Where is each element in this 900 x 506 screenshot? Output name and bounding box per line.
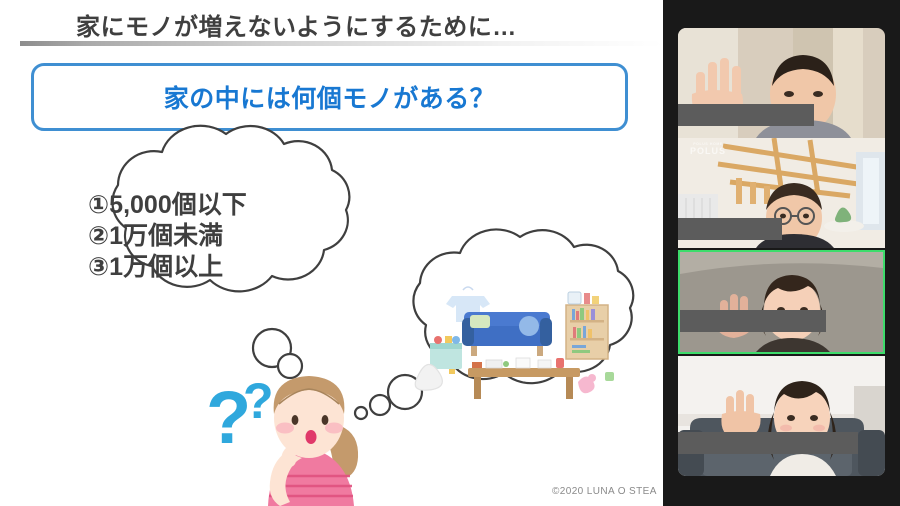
right-thought-bubble [413,229,633,383]
hanging-shirt-icon [446,287,490,322]
participant-name-redaction-1 [678,104,814,126]
coffee-table-icon [468,358,580,399]
video-tile-3[interactable] [678,250,885,354]
presentation-slide: 家にモノが増えないようにするために… 家の中には何個モノがある？ [0,0,663,506]
svg-text:?: ? [243,373,274,429]
slide-screenshot: 家にモノが増えないようにするために… 家の中には何個モノがある？ [0,0,900,506]
question-box-text: 家の中には何個モノがある？ [164,79,496,115]
plush-toy-icon [578,374,596,393]
participant-name-redaction-3 [680,310,826,332]
video-feed-4 [678,356,885,476]
answer-option-3: ③1万個以上 [88,252,247,283]
title-divider [20,41,663,46]
answer-option-2: ②1万個未満 [88,221,247,252]
svg-text:?: ? [206,376,251,459]
thinking-woman-illustration [268,376,358,506]
answer-option-1: ①5,000個以下 [88,190,247,221]
video-tile-1[interactable] [678,28,885,138]
bookshelf-icon [566,292,608,359]
sofa-icon [462,312,552,356]
copyright-notice: ©2020 LUNA O STEA [552,486,657,497]
toy-block-icon [605,372,614,381]
polus-watermark: POLUS HOME POLUS [690,142,726,156]
toy-box-icon [430,336,462,374]
messy-room-illustration [415,287,614,399]
slide-title: 家にモノが増えないようにするために… [76,7,517,42]
question-mark-icon: ? ? [206,373,274,459]
answer-options-list: ①5,000個以下 ②1万個未満 ③1万個以上 [88,190,247,283]
watermark-text: POLUS [690,146,726,156]
video-participant-panel: POLUS HOME POLUS [663,0,900,506]
video-tile-4[interactable] [678,356,885,476]
right-bubble-tail [355,375,422,419]
participant-name-redaction-4 [678,432,858,454]
beanbag-icon [415,364,442,390]
left-bubble-tail [253,329,302,378]
video-feed-3 [680,252,883,352]
participant-name-redaction-2 [678,218,782,240]
question-box: 家の中には何個モノがある？ [31,63,628,131]
video-tile-2[interactable]: POLUS HOME POLUS [678,138,885,248]
